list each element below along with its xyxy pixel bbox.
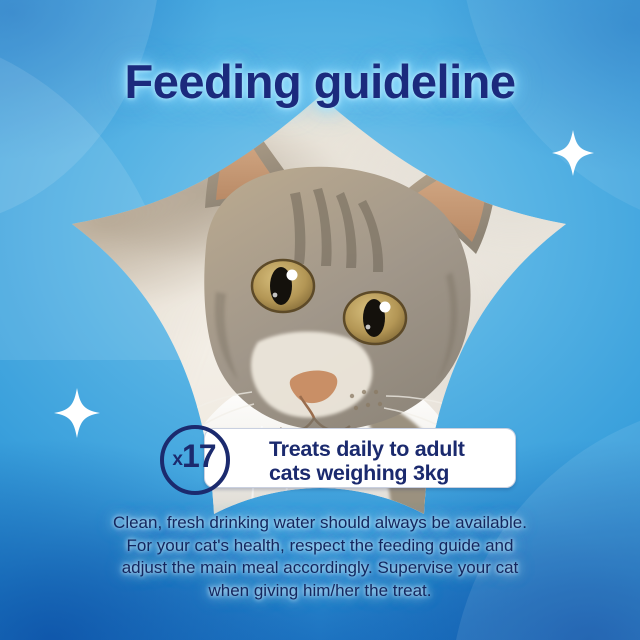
feeding-badge: Treats daily to adult cats weighing 3kg … — [158, 424, 514, 492]
badge-panel-text: Treats daily to adult cats weighing 3kg — [269, 437, 519, 485]
badge-line-2: cats weighing 3kg — [269, 461, 519, 485]
footer-note: Clean, fresh drinking water should alway… — [50, 512, 590, 602]
badge-panel: Treats daily to adult cats weighing 3kg — [204, 428, 516, 488]
decorative-blob-top-left — [0, 0, 200, 226]
page-title: Feeding guideline — [0, 56, 640, 108]
badge-multiplier-prefix: x — [172, 449, 182, 470]
note-line-1: Clean, fresh drinking water should alway… — [50, 512, 590, 535]
badge-count: x17 — [158, 438, 230, 475]
badge-multiplier-value: 17 — [182, 438, 216, 474]
badge-circle: x17 — [158, 424, 230, 492]
sparkle-icon-mid-left — [54, 388, 100, 438]
note-line-2: For your cat's health, respect the feedi… — [50, 535, 590, 558]
note-line-4: when giving him/her the treat. — [50, 580, 590, 603]
note-line-3: adjust the main meal accordingly. Superv… — [50, 557, 590, 580]
feeding-guideline-poster: Feeding guideline Treats daily to adult … — [0, 0, 640, 640]
sparkle-icon-top-right — [552, 130, 594, 176]
badge-line-1: Treats daily to adult — [269, 437, 519, 461]
